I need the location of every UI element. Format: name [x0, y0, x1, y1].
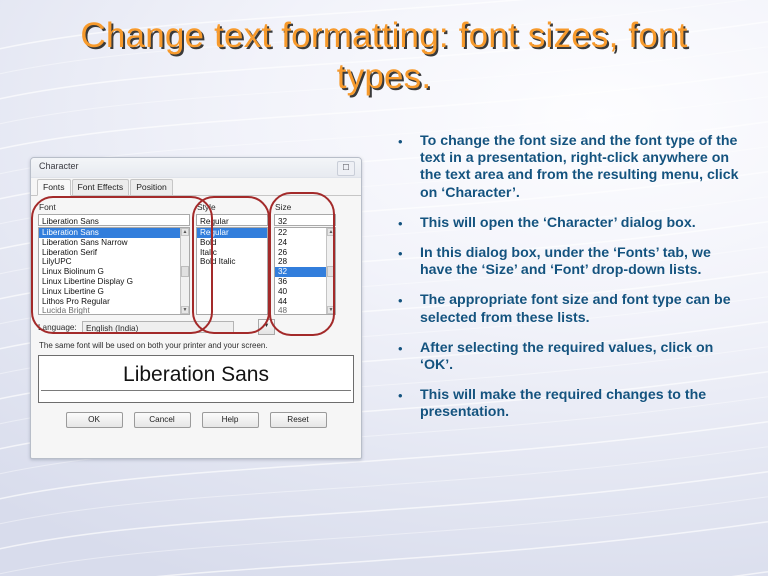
style-label: Style: [197, 202, 268, 212]
help-button[interactable]: Help: [202, 412, 259, 428]
list-item[interactable]: Lucida Bright: [39, 306, 189, 315]
preview-text: Liberation Sans: [39, 363, 353, 387]
list-item: • This will make the required changes to…: [394, 387, 746, 421]
list-item: • To change the font size and the font t…: [394, 133, 746, 202]
bullet-marker-icon: •: [394, 245, 420, 262]
tab-fonts[interactable]: Fonts: [37, 179, 71, 196]
scrollbar-thumb[interactable]: [327, 266, 335, 277]
bullet-marker-icon: •: [394, 340, 420, 357]
font-listbox[interactable]: Liberation Sans Liberation Sans Narrow L…: [38, 227, 190, 315]
dialog-hint-text: The same font will be used on both your …: [39, 341, 354, 350]
list-item: • This will open the ‘Character’ dialog …: [394, 215, 746, 232]
close-icon[interactable]: ☐: [337, 161, 355, 176]
list-item[interactable]: Linux Libertine G: [39, 287, 189, 297]
scrollbar-thumb[interactable]: [181, 266, 189, 277]
bullet-marker-icon: •: [394, 387, 420, 404]
list-item[interactable]: Linux Biolinum G: [39, 267, 189, 277]
list-item: • After selecting the required values, c…: [394, 340, 746, 374]
list-item[interactable]: Bold Italic: [197, 257, 267, 267]
scroll-down-icon[interactable]: ▼: [181, 306, 189, 314]
size-label: Size: [275, 202, 336, 212]
slide-title: Change text formatting: font sizes, font…: [50, 16, 718, 97]
bullet-list: • To change the font size and the font t…: [394, 133, 746, 435]
font-name-input[interactable]: Liberation Sans: [38, 214, 190, 226]
list-item: • In this dialog box, under the ‘Fonts’ …: [394, 245, 746, 279]
list-item[interactable]: Italic: [197, 248, 267, 258]
list-item[interactable]: Liberation Sans: [39, 228, 189, 238]
bullet-text: In this dialog box, under the ‘Fonts’ ta…: [420, 245, 746, 279]
list-item[interactable]: LilyUPC: [39, 257, 189, 267]
dialog-tab-bar: Fonts Font Effects Position: [31, 178, 361, 196]
scroll-up-icon[interactable]: ▲: [181, 228, 189, 236]
language-select[interactable]: English (India): [82, 321, 234, 333]
list-item[interactable]: Liberation Serif: [39, 248, 189, 258]
size-input[interactable]: 32: [274, 214, 336, 226]
bullet-marker-icon: •: [394, 215, 420, 232]
tab-position[interactable]: Position: [130, 179, 173, 195]
dialog-title: Character: [39, 161, 79, 171]
dialog-title-bar: Character ☐: [31, 158, 361, 178]
style-listbox[interactable]: Regular Bold Italic Bold Italic: [196, 227, 268, 315]
font-label: Font: [39, 202, 190, 212]
font-column: Font Liberation Sans Liberation Sans Lib…: [38, 201, 190, 315]
size-column: Size 32 22 24 26 28 32 36 40 44 48: [274, 201, 336, 315]
font-list-scrollbar[interactable]: ▲ ▼: [180, 228, 189, 314]
bullet-marker-icon: •: [394, 133, 420, 150]
language-row: Language: English (India) ▼: [38, 319, 354, 335]
reset-button[interactable]: Reset: [270, 412, 327, 428]
language-label: Language:: [38, 323, 82, 332]
scroll-up-icon[interactable]: ▲: [327, 228, 335, 236]
list-item[interactable]: Liberation Sans Narrow: [39, 238, 189, 248]
bullet-text: After selecting the required values, cli…: [420, 340, 746, 374]
dialog-button-row: OK Cancel Help Reset: [38, 412, 354, 428]
ok-button[interactable]: OK: [66, 412, 123, 428]
character-dialog-screenshot: Character ☐ Fonts Font Effects Position …: [30, 157, 362, 459]
bullet-text: The appropriate font size and font type …: [420, 292, 746, 326]
style-input[interactable]: Regular: [196, 214, 268, 226]
scroll-down-icon[interactable]: ▼: [327, 306, 335, 314]
bullet-text: To change the font size and the font typ…: [420, 133, 746, 202]
list-item[interactable]: Regular: [197, 228, 267, 238]
font-preview-box: Liberation Sans: [38, 355, 354, 403]
list-item[interactable]: Bold: [197, 238, 267, 248]
list-item[interactable]: Lithos Pro Regular: [39, 297, 189, 307]
chevron-down-icon[interactable]: ▼: [258, 319, 275, 335]
tab-font-effects[interactable]: Font Effects: [72, 179, 130, 195]
list-item: • The appropriate font size and font typ…: [394, 292, 746, 326]
dialog-body: Font Liberation Sans Liberation Sans Lib…: [31, 196, 361, 459]
size-listbox[interactable]: 22 24 26 28 32 36 40 44 48 ▲ ▼: [274, 227, 336, 315]
cancel-button[interactable]: Cancel: [134, 412, 191, 428]
bullet-text: This will make the required changes to t…: [420, 387, 746, 421]
style-column: Style Regular Regular Bold Italic Bold I…: [196, 201, 268, 315]
font-selection-columns: Font Liberation Sans Liberation Sans Lib…: [38, 201, 354, 315]
size-list-scrollbar[interactable]: ▲ ▼: [326, 228, 335, 314]
bullet-text: This will open the ‘Character’ dialog bo…: [420, 215, 746, 232]
list-item[interactable]: Linux Libertine Display G: [39, 277, 189, 287]
preview-baseline: [41, 390, 351, 391]
bullet-marker-icon: •: [394, 292, 420, 309]
